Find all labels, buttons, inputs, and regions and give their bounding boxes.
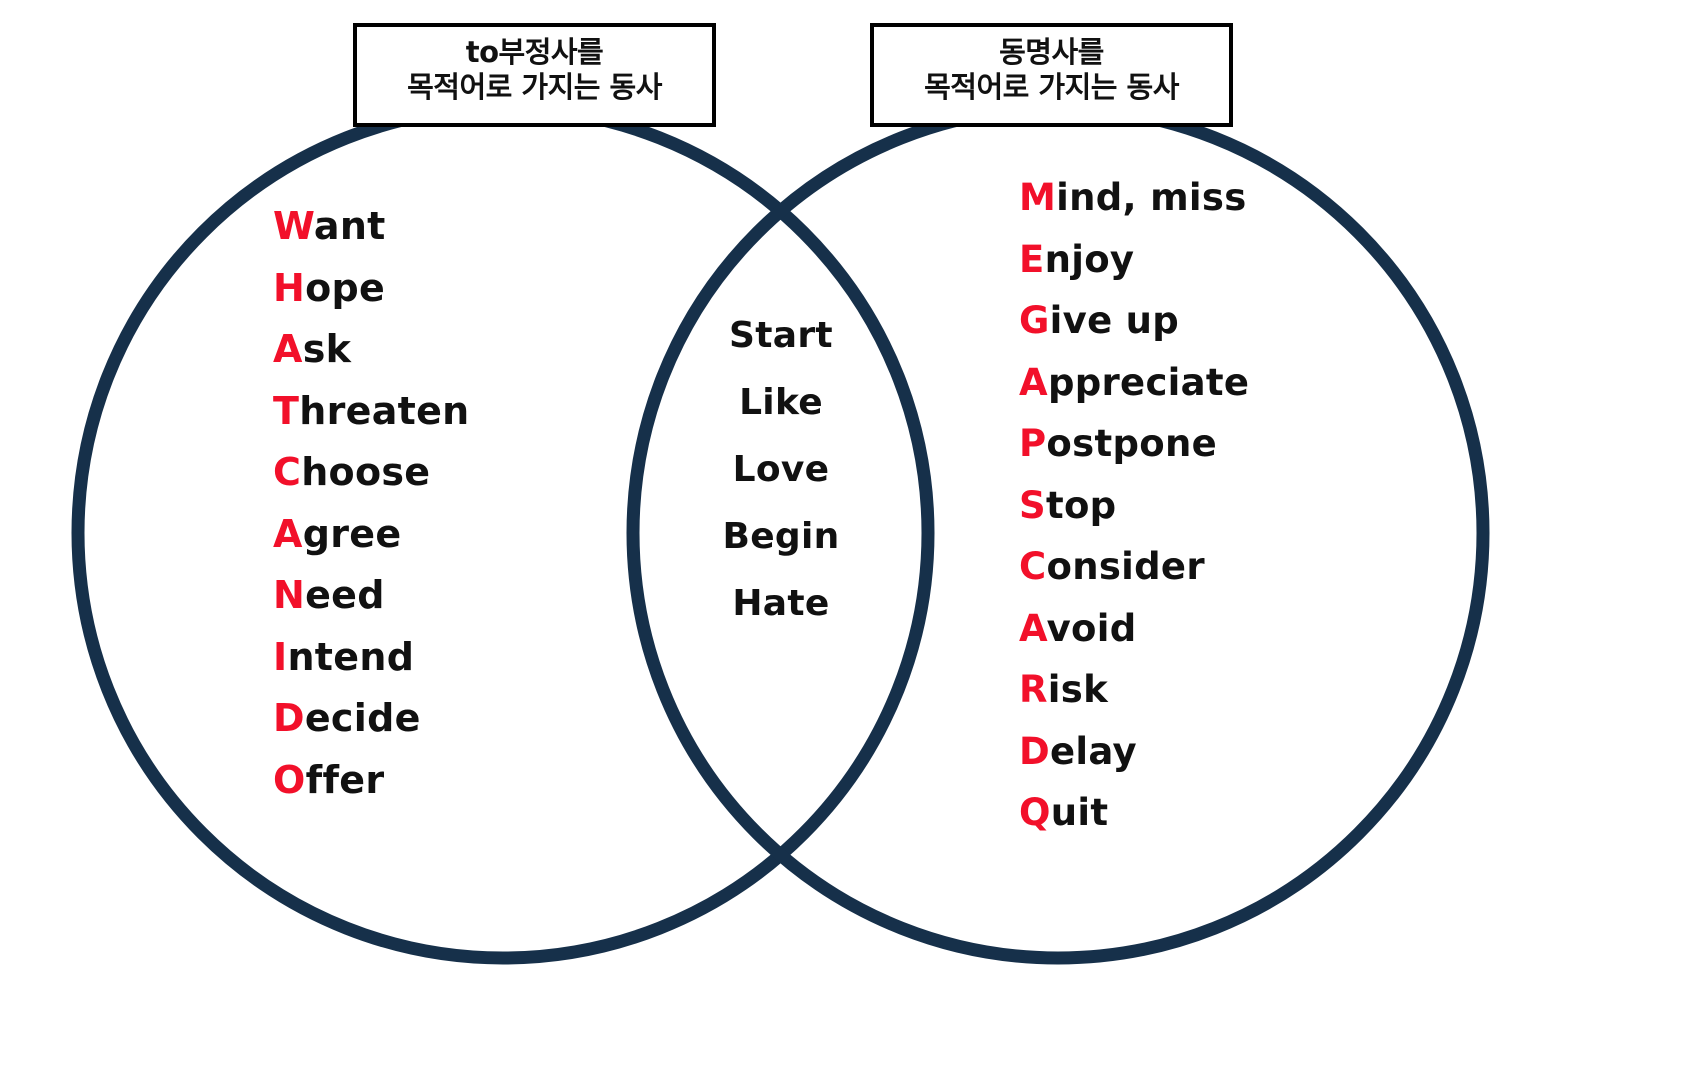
word-remainder: Begin [722, 516, 839, 557]
word-initial: R [1019, 668, 1048, 711]
left-set-word-list: WantHopeAskThreatenChooseAgreeNeedIntend… [273, 196, 573, 811]
word-item: Begin [636, 503, 926, 570]
word-item: Start [636, 302, 926, 369]
left-set-label: to부정사를 목적어로 가지는 동사 [353, 23, 716, 127]
word-remainder: ecide [305, 696, 421, 740]
word-item: Give up [1019, 290, 1359, 352]
word-initial: N [273, 573, 305, 617]
word-remainder: Hate [732, 583, 829, 624]
word-initial: O [273, 758, 306, 802]
left-set-label-line2: 목적어로 가지는 동사 [371, 70, 698, 105]
word-remainder: uit [1051, 791, 1109, 834]
word-remainder: ffer [306, 758, 385, 802]
word-item: Decide [273, 688, 573, 750]
word-initial: A [273, 512, 303, 556]
word-remainder: gree [303, 512, 402, 556]
word-remainder: ind, miss [1056, 176, 1246, 219]
right-set-label-line2: 목적어로 가지는 동사 [888, 70, 1215, 105]
venn-diagram-canvas: to부정사를 목적어로 가지는 동사 동명사를 목적어로 가지는 동사 Want… [0, 0, 1692, 1073]
word-remainder: Love [733, 449, 830, 490]
word-remainder: Like [739, 382, 823, 423]
word-remainder: njoy [1045, 238, 1135, 281]
word-item: Avoid [1019, 598, 1359, 660]
word-initial: E [1019, 238, 1045, 281]
intersection-word-list: StartLikeLoveBeginHate [636, 302, 926, 637]
word-initial: A [1019, 361, 1048, 404]
word-remainder: ntend [287, 635, 414, 679]
right-set-label-line1: 동명사를 [888, 35, 1215, 70]
word-remainder: Start [729, 315, 833, 356]
word-item: Like [636, 369, 926, 436]
word-remainder: ope [305, 266, 385, 310]
word-initial: D [1019, 730, 1050, 773]
word-remainder: elay [1050, 730, 1137, 773]
word-initial: T [273, 389, 299, 433]
word-item: Choose [273, 442, 573, 504]
word-item: Delay [1019, 721, 1359, 783]
word-item: Hate [636, 570, 926, 637]
word-item: Want [273, 196, 573, 258]
word-initial: P [1019, 422, 1046, 465]
word-remainder: top [1046, 484, 1117, 527]
word-initial: W [273, 204, 314, 248]
word-item: Appreciate [1019, 352, 1359, 414]
word-remainder: sk [303, 327, 352, 371]
word-initial: Q [1019, 791, 1051, 834]
word-remainder: void [1047, 607, 1137, 650]
word-item: Risk [1019, 659, 1359, 721]
word-remainder: eed [305, 573, 385, 617]
right-set-word-list: Mind, missEnjoyGive upAppreciatePostpone… [1019, 167, 1359, 844]
word-initial: D [273, 696, 305, 740]
word-initial: G [1019, 299, 1050, 342]
word-item: Hope [273, 258, 573, 320]
word-remainder: hoose [301, 450, 430, 494]
word-item: Stop [1019, 475, 1359, 537]
word-initial: A [1019, 607, 1047, 650]
word-initial: C [1019, 545, 1046, 588]
word-item: Ask [273, 319, 573, 381]
word-remainder: onsider [1046, 545, 1204, 588]
word-remainder: hreaten [299, 389, 469, 433]
word-item: Mind, miss [1019, 167, 1359, 229]
word-item: Postpone [1019, 413, 1359, 475]
word-initial: S [1019, 484, 1046, 527]
word-remainder: ant [314, 204, 386, 248]
word-initial: H [273, 266, 305, 310]
word-initial: M [1019, 176, 1056, 219]
word-initial: I [273, 635, 287, 679]
word-remainder: ppreciate [1048, 361, 1249, 404]
word-initial: A [273, 327, 303, 371]
left-set-label-line1: to부정사를 [371, 35, 698, 70]
word-item: Need [273, 565, 573, 627]
word-item: Offer [273, 750, 573, 812]
word-item: Agree [273, 504, 573, 566]
word-remainder: ostpone [1046, 422, 1217, 465]
word-item: Enjoy [1019, 229, 1359, 291]
word-item: Love [636, 436, 926, 503]
right-set-label: 동명사를 목적어로 가지는 동사 [870, 23, 1233, 127]
word-remainder: ive up [1050, 299, 1179, 342]
word-remainder: isk [1048, 668, 1108, 711]
word-initial: C [273, 450, 301, 494]
word-item: Consider [1019, 536, 1359, 598]
word-item: Quit [1019, 782, 1359, 844]
word-item: Threaten [273, 381, 573, 443]
word-item: Intend [273, 627, 573, 689]
